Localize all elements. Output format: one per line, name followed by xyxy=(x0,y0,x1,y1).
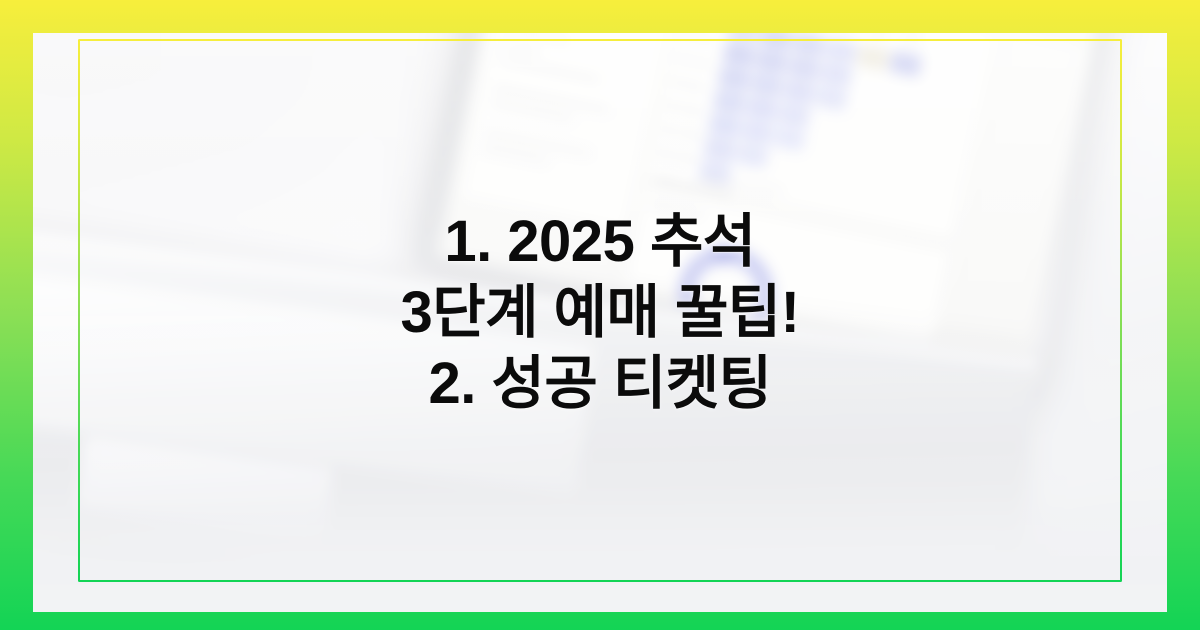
headline-line-1: 1. 2025 추석 xyxy=(78,206,1122,277)
poster-canvas: ☆ Sessions Users Bounce rate Avg. durati… xyxy=(0,0,1200,630)
headline-line-3: 2. 성공 티켓팅 xyxy=(78,348,1122,419)
headline: 1. 2025 추석 3단계 예매 꿀팁! 2. 성공 티켓팅 xyxy=(78,206,1122,419)
headline-line-2: 3단계 예매 꿀팁! xyxy=(78,277,1122,348)
